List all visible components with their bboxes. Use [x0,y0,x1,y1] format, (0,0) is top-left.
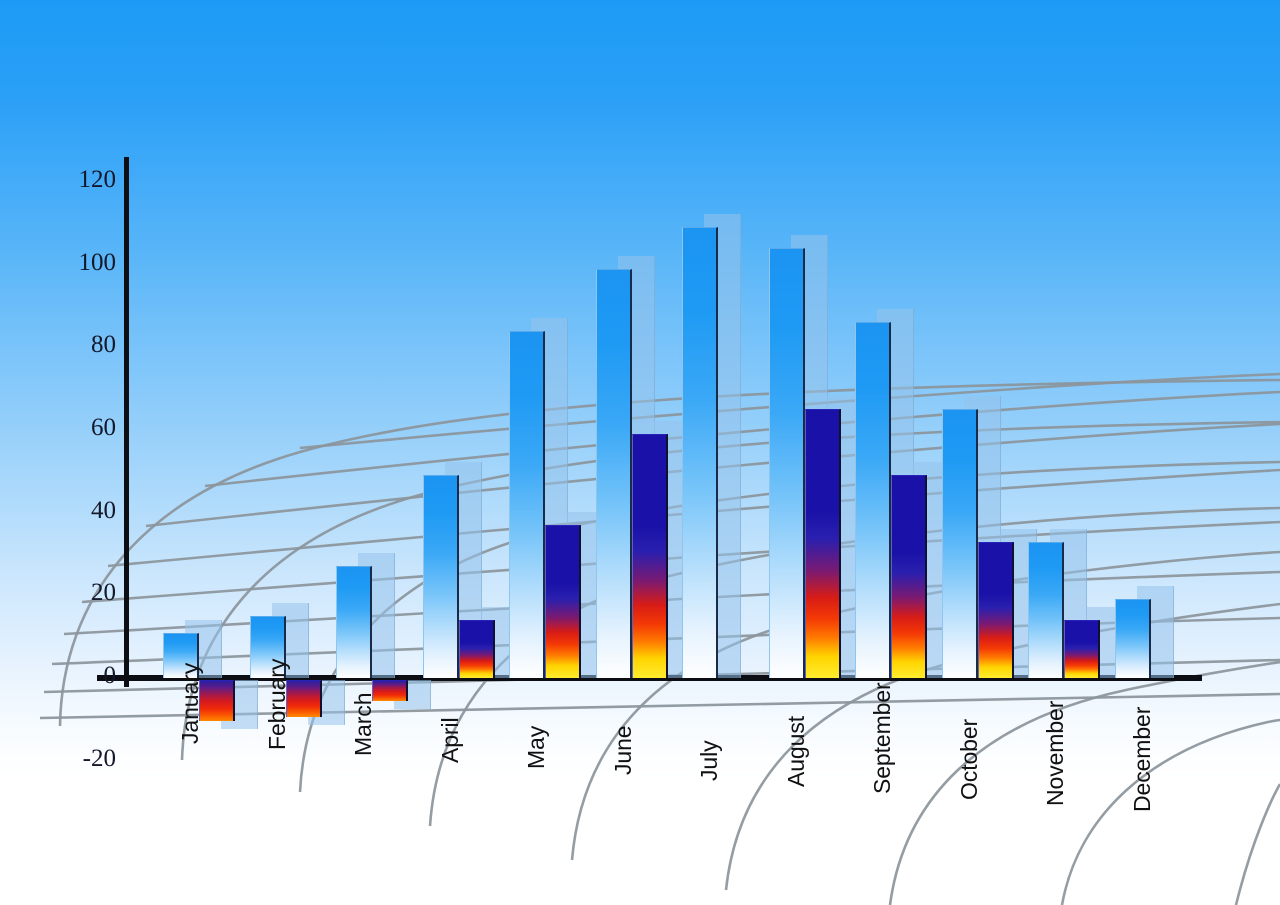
y-tick-label: 100 [79,250,117,275]
x-label-january: January [177,663,204,744]
bar-fire-june[interactable] [632,434,668,678]
bar-fire-october[interactable] [978,542,1014,678]
x-label-june: June [610,726,637,775]
y-tick-label: 0 [104,663,117,688]
y-tick-label: 80 [91,332,116,357]
y-tick-label: 120 [79,167,117,192]
y-tick-label: 20 [91,580,116,605]
bar-fire-november[interactable] [1064,620,1100,678]
bar-fire-march[interactable] [372,680,408,701]
bar-blue-august[interactable] [769,248,805,678]
bar-fire-may[interactable] [545,525,581,678]
y-tick-label: 40 [91,498,116,523]
bar-blue-november[interactable] [1028,542,1064,678]
plot-area: -20020406080100120 JanuaryFebruaryMarchA… [0,0,1280,905]
x-label-march: March [350,693,377,756]
bar-fire-september[interactable] [891,475,927,678]
x-label-september: September [869,682,896,794]
x-label-october: October [956,719,983,800]
bar-blue-september[interactable] [855,322,891,678]
bar-fire-august[interactable] [805,409,841,678]
chart-canvas: -20020406080100120 JanuaryFebruaryMarchA… [0,0,1280,905]
bar-fire-january[interactable] [199,680,235,721]
y-axis-line [124,157,129,687]
bar-blue-july[interactable] [682,227,718,678]
bar-blue-may[interactable] [509,331,545,678]
x-label-august: August [783,716,810,787]
x-label-february: February [264,659,291,750]
bar-blue-december[interactable] [1115,599,1151,678]
bar-blue-june[interactable] [596,269,632,678]
bar-blue-april[interactable] [423,475,459,678]
bar-blue-march[interactable] [336,566,372,678]
x-label-april: April [437,717,464,763]
x-label-july: July [696,741,723,782]
bar-fire-april[interactable] [459,620,495,678]
x-label-november: November [1042,701,1069,806]
y-tick-label: 60 [91,415,116,440]
x-label-december: December [1129,707,1156,812]
y-tick-label: -20 [83,746,116,771]
x-label-may: May [523,726,550,769]
bar-blue-october[interactable] [942,409,978,678]
